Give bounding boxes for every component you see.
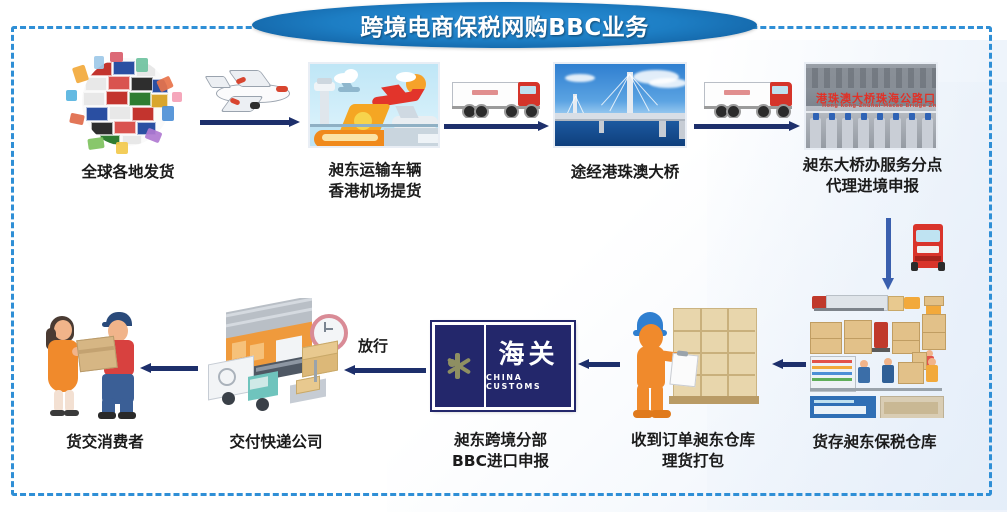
connector-arrow-3 [694,122,800,131]
step-6-label-line2: BBC进口申报 [428,451,573,472]
bonded-warehouse-collage-icon [806,292,946,418]
step-6-label-line1: 昶东跨境分部 [428,430,573,451]
step-4-label: 昶东大桥办服务分点 代理进境申报 [790,155,955,197]
step-8-label: 货交消费者 [30,432,180,453]
china-customs-sign-icon: 海关 CHINA CUSTOMS [432,322,574,410]
bridge-photo-icon [553,62,687,148]
customs-english-text: CHINA CUSTOMS [486,373,571,391]
port-sign-english: Hong Kong-Zhuhai-Macao Bridge Zhuhai Por… [822,103,938,109]
connector-arrow-6 [578,360,620,369]
step-5b-label: 收到订单昶东仓库 理货打包 [608,430,778,472]
step-6-label: 昶东跨境分部 BBC进口申报 [428,430,573,472]
world-flags-globe-icon [58,50,198,155]
truck-front-icon [908,222,950,274]
customs-emblem-icon [444,351,474,381]
step-7-label: 交付快递公司 [196,432,356,453]
diagram-canvas: 跨境电商保税网购BBC业务 [0,0,1007,512]
customs-text-panel: 海关 CHINA CUSTOMS [486,325,571,407]
clipboard-icon [669,353,698,388]
step-2-label: 昶东运输车辆 香港机场提货 [290,160,460,202]
connector-arrow-1 [200,118,300,127]
step-5-label: 货存昶东保税仓库 [792,432,957,453]
parcel-box [76,336,118,372]
border-port-photo-icon: 港珠澳大桥珠海公路口岸 Hong Kong-Zhuhai-Macao Bridg… [804,62,938,150]
connector-arrow-2 [444,122,549,131]
diagram-title-text: 跨境电商保税网购BBC业务 [360,8,648,42]
airport-illustration-icon [308,62,440,148]
step-5b-label-line1: 收到订单昶东仓库 [608,430,778,451]
step-3-label: 途经港珠澳大桥 [540,162,710,183]
step-2-label-line2: 香港机场提货 [290,181,460,202]
customs-emblem-panel [435,325,486,407]
warehouse-dispatch-icon [198,298,350,420]
release-label: 放行 [358,335,388,356]
courier-handing-parcel-icon [32,302,157,422]
airplane-icon [200,68,300,116]
step-1-label: 全球各地发货 [48,162,208,183]
connector-arrow-5 [772,360,806,369]
step-4-label-line1: 昶东大桥办服务分点 [790,155,955,176]
step-2-label-line1: 昶东运输车辆 [290,160,460,181]
connector-arrow-7 [344,366,426,375]
step-5b-label-line2: 理货打包 [608,451,778,472]
warehouse-worker-pallet-icon [615,298,770,420]
truck-side-icon [448,78,548,118]
connector-arrow-4 [884,218,893,290]
customs-chinese-text: 海关 [498,342,558,368]
diagram-title-banner: 跨境电商保税网购BBC业务 [252,2,757,48]
truck-side-icon-2 [700,78,800,118]
step-4-label-line2: 代理进境申报 [790,176,955,197]
